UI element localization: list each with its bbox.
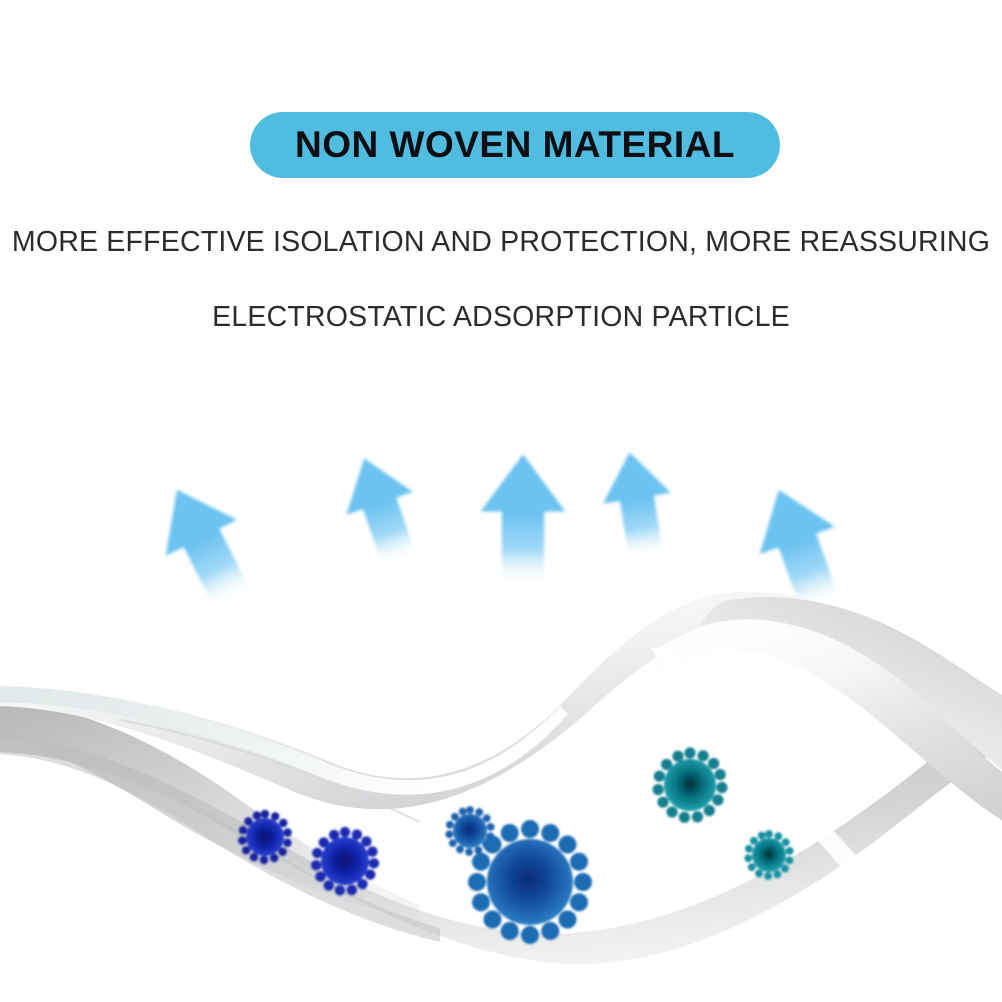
virus-body [487,839,573,925]
virus-body [246,818,284,856]
illustration-stage [0,0,1002,1002]
airflow-arrow-1 [141,472,269,619]
airflow-arrow-3 [481,454,566,585]
up-arrow-icon [141,472,269,619]
up-arrow-icon [481,454,566,585]
virus-body [321,837,369,885]
airflow-arrow-2 [331,447,433,573]
non-woven-material-infographic: NON WOVEN MATERIAL MORE EFFECTIVE ISOLAT… [0,0,1002,1002]
fabric-underside-shadow [0,736,440,942]
virus-body [752,838,786,872]
up-arrow-icon [331,447,433,573]
virus-particle-5 [653,747,728,823]
illustration-svg [0,0,1002,1002]
up-arrow-icon [596,447,681,563]
virus-body [453,814,487,848]
airflow-arrow-4 [596,447,681,563]
virus-body [664,759,716,811]
virus-particle-4 [468,820,592,944]
